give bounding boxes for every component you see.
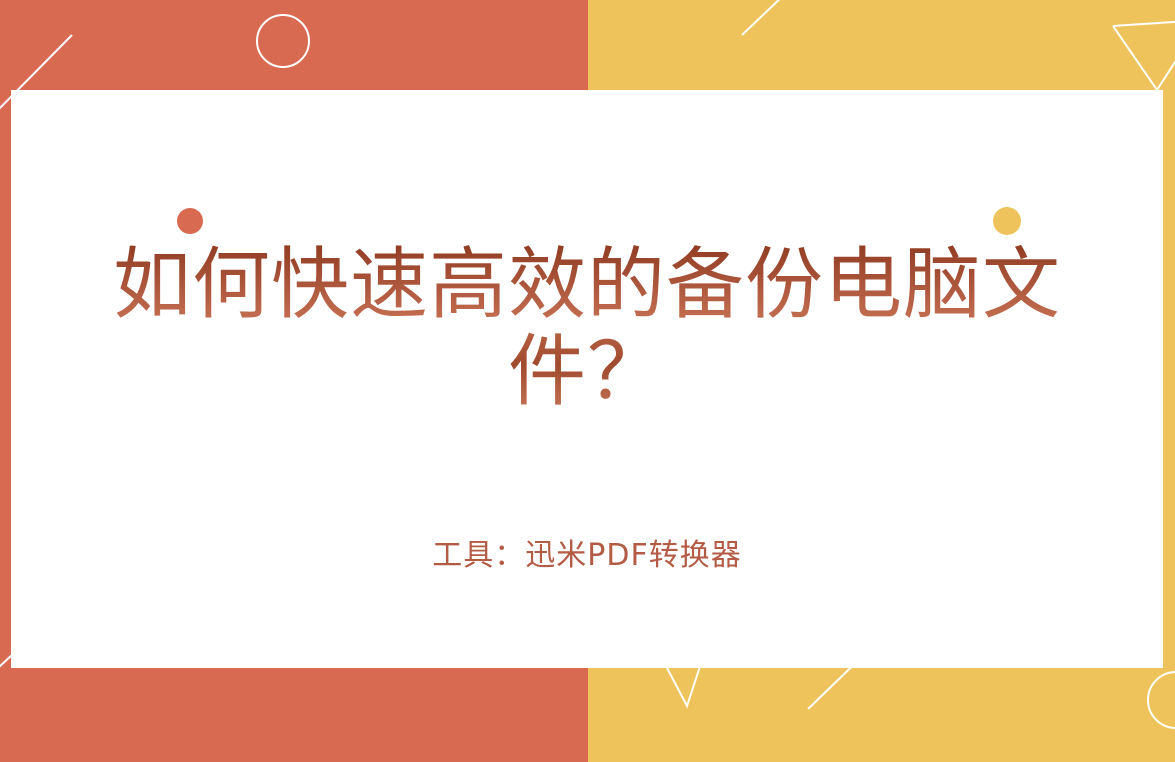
title-block: 如何快速高效的备份电脑文件？ bbox=[11, 242, 1163, 417]
slide-canvas: 如何快速高效的备份电脑文件？ 工具：迅米PDF转换器 bbox=[0, 0, 1175, 762]
content-card: 如何快速高效的备份电脑文件？ 工具：迅米PDF转换器 bbox=[11, 90, 1163, 668]
dot-icon bbox=[993, 207, 1021, 235]
subtitle-block: 工具：迅米PDF转换器 bbox=[11, 530, 1163, 574]
slide-subtitle: 工具：迅米PDF转换器 bbox=[11, 530, 1163, 574]
dot-icon bbox=[177, 208, 203, 234]
slide-title: 如何快速高效的备份电脑文件？ bbox=[11, 242, 1163, 417]
